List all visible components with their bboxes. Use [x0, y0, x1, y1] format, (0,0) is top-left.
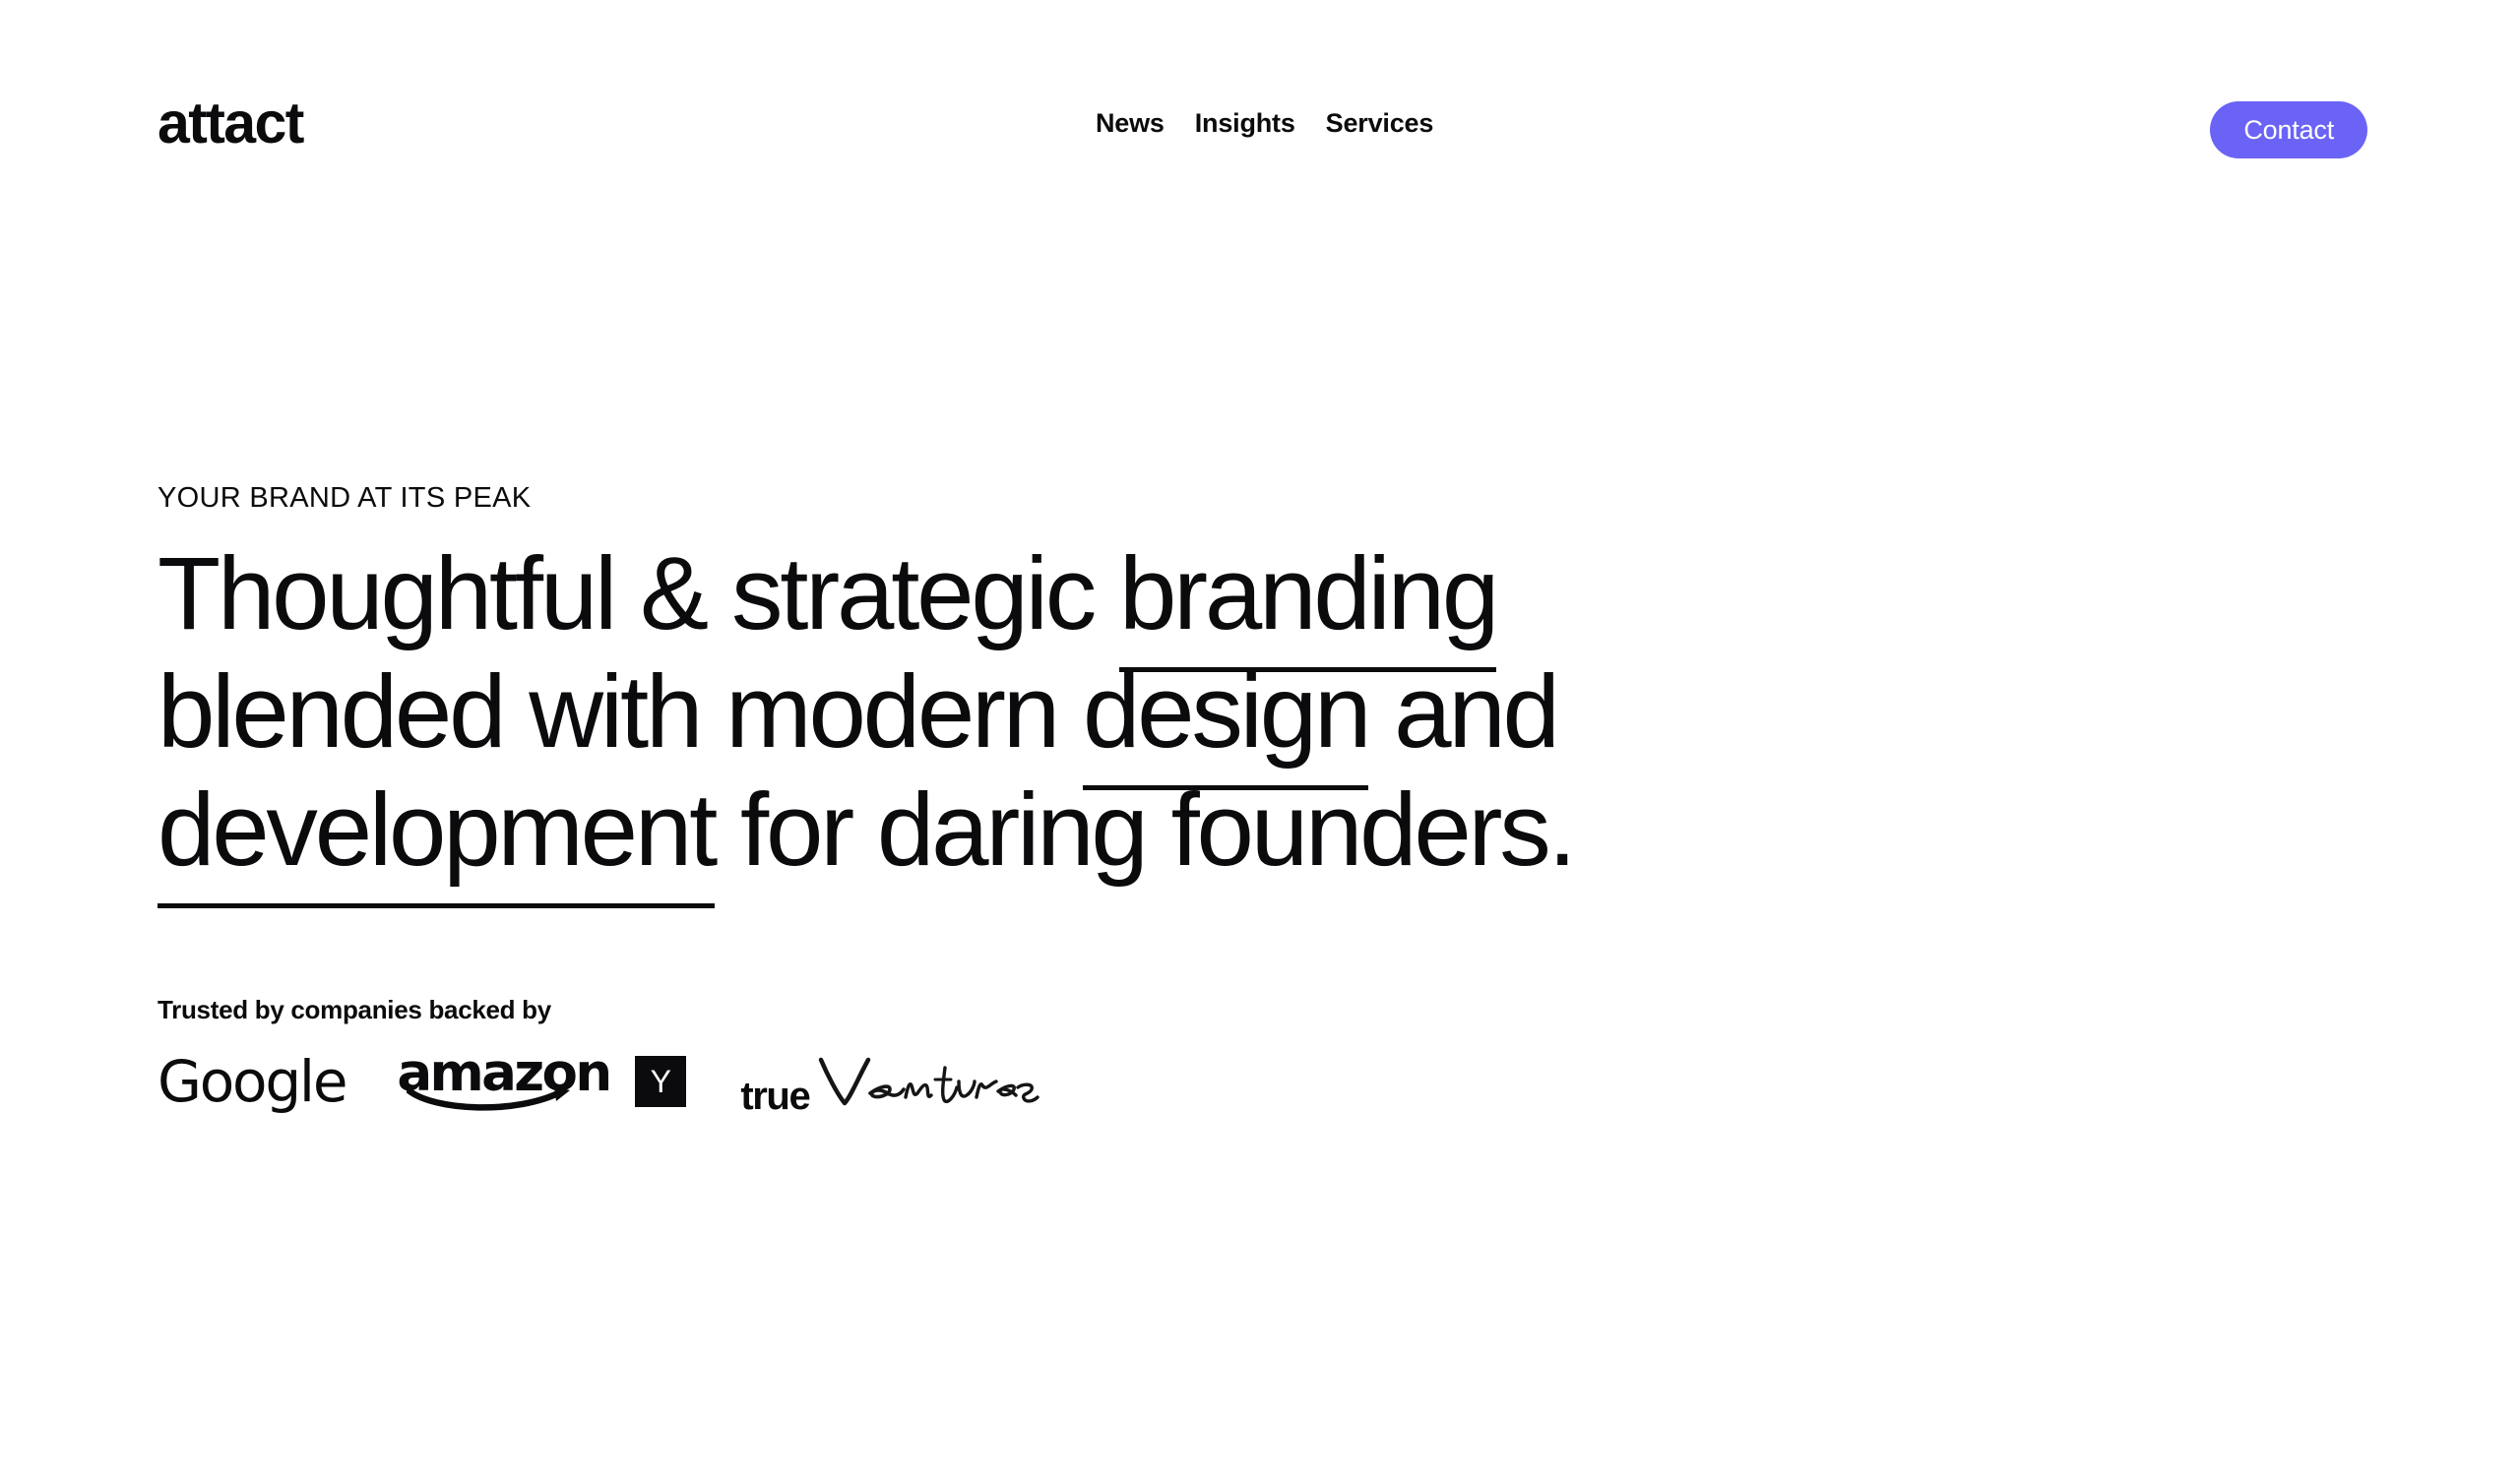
trusted-by-section: Trusted by companies backed by Google am… — [157, 997, 1041, 1117]
true-wordmark: true — [740, 1077, 809, 1116]
brand-logo[interactable]: attact — [157, 94, 303, 153]
ventures-script-mark — [817, 1054, 1041, 1115]
site-header: attact News Insights Services Contact — [0, 0, 2520, 261]
hero-headline: Thoughtful & strategic branding blended … — [157, 535, 1851, 891]
headline-emphasis-branding: branding — [1119, 536, 1496, 651]
landing-page: attact News Insights Services Contact YO… — [0, 0, 2520, 1482]
trusted-logo-row: Google amazon Y true — [157, 1046, 1041, 1117]
ycombinator-logo: Y — [635, 1046, 686, 1117]
contact-button[interactable]: Contact — [2210, 101, 2367, 158]
nav-item-news[interactable]: News — [1096, 110, 1165, 137]
headline-text-2: blended with modern — [157, 654, 1083, 770]
google-wordmark: Google — [157, 1053, 346, 1110]
amazon-smile-arc — [407, 1084, 582, 1114]
trusted-by-label: Trusted by companies backed by — [157, 997, 1041, 1022]
headline-emphasis-design: design — [1083, 654, 1368, 770]
hero-section: YOUR BRAND AT ITS PEAK Thoughtful & stra… — [157, 484, 2422, 891]
amazon-logo: amazon — [397, 1046, 580, 1117]
nav-item-services[interactable]: Services — [1326, 110, 1434, 137]
nav-item-insights[interactable]: Insights — [1195, 110, 1295, 137]
main-navigation: News Insights Services — [1096, 110, 1433, 137]
headline-text-1: Thoughtful & strategic — [157, 536, 1119, 651]
true-ventures-logo: true — [740, 1046, 1041, 1117]
headline-emphasis-development: development — [157, 772, 715, 888]
ycombinator-mark: Y — [635, 1056, 686, 1107]
hero-eyebrow: YOUR BRAND AT ITS PEAK — [157, 484, 2422, 513]
google-logo: Google — [157, 1046, 346, 1117]
